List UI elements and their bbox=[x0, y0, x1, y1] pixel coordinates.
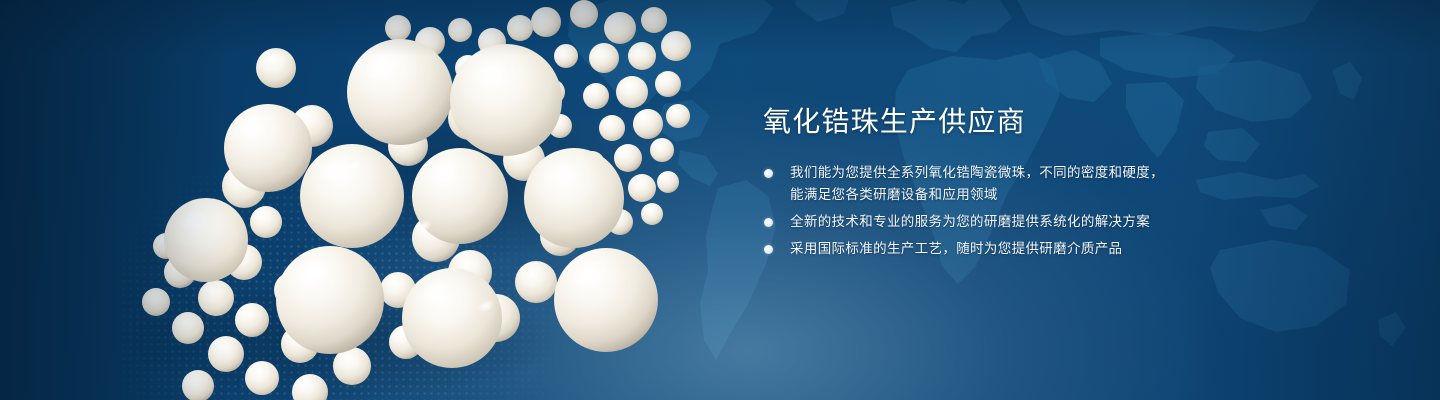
banner-bullet-item: 全新的技术和专业的服务为您的研磨提供系统化的解决方案 bbox=[763, 211, 1323, 233]
bullet-line-1: 采用国际标准的生产工艺，随时为您提供研磨介质产品 bbox=[790, 241, 1122, 256]
bullet-line-1: 我们能为您提供全系列氧化锆陶瓷微珠，不同的密度和硬度， bbox=[790, 165, 1164, 180]
banner-bullet-text: 我们能为您提供全系列氧化锆陶瓷微珠，不同的密度和硬度， 能满足您各类研磨设备和应… bbox=[790, 162, 1323, 206]
bullet-dot-icon bbox=[764, 169, 773, 178]
banner-bullet-item: 我们能为您提供全系列氧化锆陶瓷微珠，不同的密度和硬度， 能满足您各类研磨设备和应… bbox=[763, 162, 1323, 206]
bullet-dot-icon bbox=[764, 218, 773, 227]
bullet-dot-icon bbox=[764, 245, 773, 254]
banner-bullet-item: 采用国际标准的生产工艺，随时为您提供研磨介质产品 bbox=[763, 238, 1323, 260]
hero-banner: 氧化锆珠生产供应商 我们能为您提供全系列氧化锆陶瓷微珠，不同的密度和硬度， 能满… bbox=[0, 0, 1440, 400]
zirconia-beads-photo bbox=[0, 0, 780, 400]
banner-bullet-text: 采用国际标准的生产工艺，随时为您提供研磨介质产品 bbox=[790, 238, 1323, 260]
banner-copy-block: 氧化锆珠生产供应商 我们能为您提供全系列氧化锆陶瓷微珠，不同的密度和硬度， 能满… bbox=[763, 104, 1323, 260]
banner-bullet-text: 全新的技术和专业的服务为您的研磨提供系统化的解决方案 bbox=[790, 211, 1323, 233]
banner-bullet-list: 我们能为您提供全系列氧化锆陶瓷微珠，不同的密度和硬度， 能满足您各类研磨设备和应… bbox=[763, 162, 1323, 260]
bullet-line-2: 能满足您各类研磨设备和应用领域 bbox=[790, 184, 1323, 206]
banner-headline: 氧化锆珠生产供应商 bbox=[763, 104, 1323, 140]
bullet-line-1: 全新的技术和专业的服务为您的研磨提供系统化的解决方案 bbox=[790, 214, 1150, 229]
